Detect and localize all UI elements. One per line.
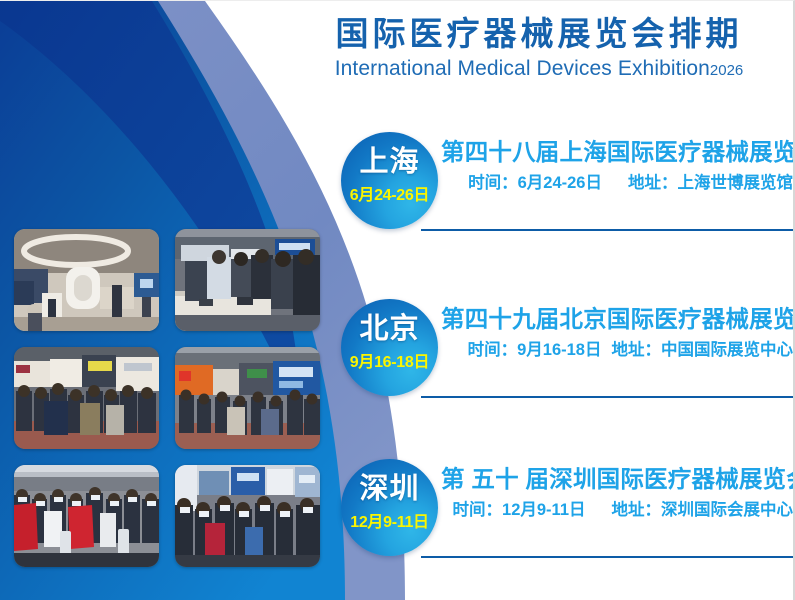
row-divider (421, 229, 795, 231)
event-title: 第 五十 届深圳国际医疗器械展览会 (441, 466, 793, 493)
event-address-label: 地址： (628, 174, 678, 192)
page-title-en-wrap: International Medical Devices Exhibition… (300, 56, 778, 81)
event-text-block: 第四十八届上海国际医疗器械展览会 时间：6月24-26日 地址：上海世博展览馆 (441, 139, 793, 194)
event-meta: 时间：9月16-18日 地址：中国国际展览中心 (441, 341, 793, 361)
badge-date-label: 12月9-11日 (341, 515, 438, 531)
event-time-value: 6月24-26日 (518, 174, 602, 192)
gallery-photo-1 (14, 229, 159, 331)
event-meta: 时间：6月24-26日 地址：上海世博展览馆 (441, 174, 793, 194)
event-time-label: 时间： (453, 501, 503, 519)
city-badge-beijing[interactable]: 北京 9月16-18日 (341, 299, 438, 396)
event-address: 地址：中国国际展览中心 (612, 341, 794, 361)
event-address-label: 地址： (612, 341, 662, 359)
event-time-label: 时间： (468, 174, 518, 192)
event-time: 时间：12月9-11日 (453, 501, 586, 521)
row-divider (421, 396, 795, 398)
city-badge-shenzhen[interactable]: 深圳 12月9-11日 (341, 459, 438, 556)
gallery-photo-6 (175, 465, 320, 567)
badge-city-label: 深圳 (341, 475, 438, 504)
badge-date-label: 6月24-26日 (341, 188, 438, 204)
gallery-photo-5 (14, 465, 159, 567)
city-badge-shanghai[interactable]: 上海 6月24-26日 (341, 132, 438, 229)
badge-city-label: 北京 (341, 315, 438, 344)
event-address-value: 上海世博展览馆 (678, 174, 794, 192)
event-row-shanghai[interactable]: 上海 6月24-26日 第四十八届上海国际医疗器械展览会 时间：6月24-26日… (333, 129, 795, 233)
event-address-value: 深圳国际会展中心 (661, 501, 793, 519)
event-time-value: 9月16-18日 (517, 341, 601, 359)
row-divider (421, 556, 795, 558)
event-title: 第四十八届上海国际医疗器械展览会 (441, 139, 793, 166)
event-time-label: 时间： (468, 341, 518, 359)
gallery-photo-2 (175, 229, 320, 331)
page-header: 国际医疗器械展览会排期 International Medical Device… (300, 15, 778, 81)
photo-gallery (14, 229, 320, 569)
gallery-photo-3 (14, 347, 159, 449)
event-address: 地址：深圳国际会展中心 (612, 501, 794, 521)
event-text-block: 第 五十 届深圳国际医疗器械展览会 时间：12月9-11日 地址：深圳国际会展中… (441, 466, 793, 521)
badge-city-label: 上海 (341, 148, 438, 177)
page-title-cn: 国际医疗器械展览会排期 (300, 15, 778, 54)
exhibition-schedule-poster: 国际医疗器械展览会排期 International Medical Device… (0, 0, 795, 600)
badge-date-label: 9月16-18日 (341, 355, 438, 371)
event-title: 第四十九届北京国际医疗器械展览会 (441, 306, 793, 333)
page-title-year: 2026 (710, 62, 743, 79)
event-time: 时间：9月16-18日 (468, 341, 602, 361)
event-meta: 时间：12月9-11日 地址：深圳国际会展中心 (441, 501, 793, 521)
event-time-value: 12月9-11日 (502, 501, 585, 519)
event-row-beijing[interactable]: 北京 9月16-18日 第四十九届北京国际医疗器械展览会 时间：9月16-18日… (333, 296, 795, 400)
event-time: 时间：6月24-26日 (468, 174, 602, 194)
event-text-block: 第四十九届北京国际医疗器械展览会 时间：9月16-18日 地址：中国国际展览中心 (441, 306, 793, 361)
event-address-value: 中国国际展览中心 (661, 341, 793, 359)
event-address: 地址：上海世博展览馆 (628, 174, 793, 194)
page-title-en: International Medical Devices Exhibition (335, 57, 710, 80)
gallery-photo-4 (175, 347, 320, 449)
event-address-label: 地址： (612, 501, 662, 519)
event-row-shenzhen[interactable]: 深圳 12月9-11日 第 五十 届深圳国际医疗器械展览会 时间：12月9-11… (333, 456, 795, 560)
